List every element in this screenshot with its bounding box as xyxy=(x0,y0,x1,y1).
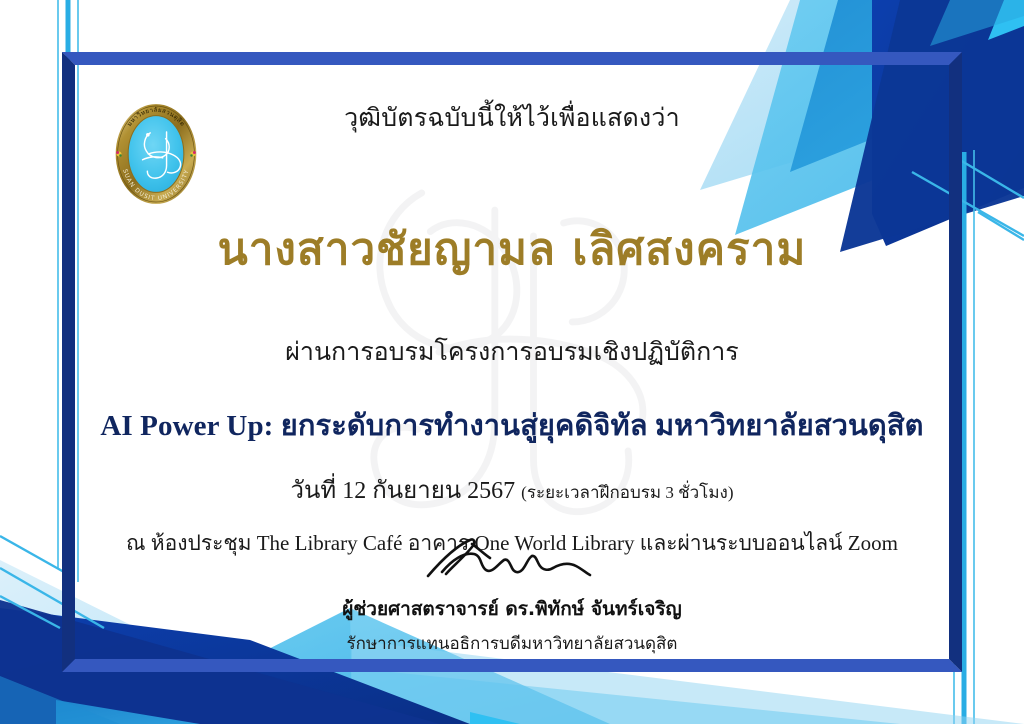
duration-text: (ระยะเวลาฝึกอบรม 3 ชั่วโมง) xyxy=(521,483,733,502)
course-title: AI Power Up: ยกระดับการทำงานสู่ยุคดิจิทั… xyxy=(80,402,944,448)
passed-line: ผ่านการอบรมโครงการอบรมเชิงปฏิบัติการ xyxy=(80,332,944,372)
handwritten-signature-icon xyxy=(412,532,612,588)
date-text: วันที่ 12 กันยายน 2567 xyxy=(291,478,516,504)
certificate-page: มหาวิทยาลัยสวนดุสิต SUAN DUSIT UNIVERSIT… xyxy=(0,0,1024,724)
header-line: วุฒิบัตรฉบับนี้ให้ไว้เพื่อแสดงว่า xyxy=(80,98,944,138)
signer-title: รักษาการแทนอธิการบดีมหาวิทยาลัยสวนดุสิต xyxy=(0,630,1024,657)
signer-name: ผู้ช่วยศาสตราจารย์ ดร.พิทักษ์ จันทร์เจริ… xyxy=(0,594,1024,624)
certificate-body: วุฒิบัตรฉบับนี้ให้ไว้เพื่อแสดงว่า นางสาว… xyxy=(80,92,944,560)
signature-block: ผู้ช่วยศาสตราจารย์ ดร.พิทักษ์ จันทร์เจริ… xyxy=(0,532,1024,657)
date-line: วันที่ 12 กันยายน 2567 (ระยะเวลาฝึกอบรม … xyxy=(80,470,944,509)
recipient-name: นางสาวชัยญามล เลิศสงคราม xyxy=(80,214,944,284)
